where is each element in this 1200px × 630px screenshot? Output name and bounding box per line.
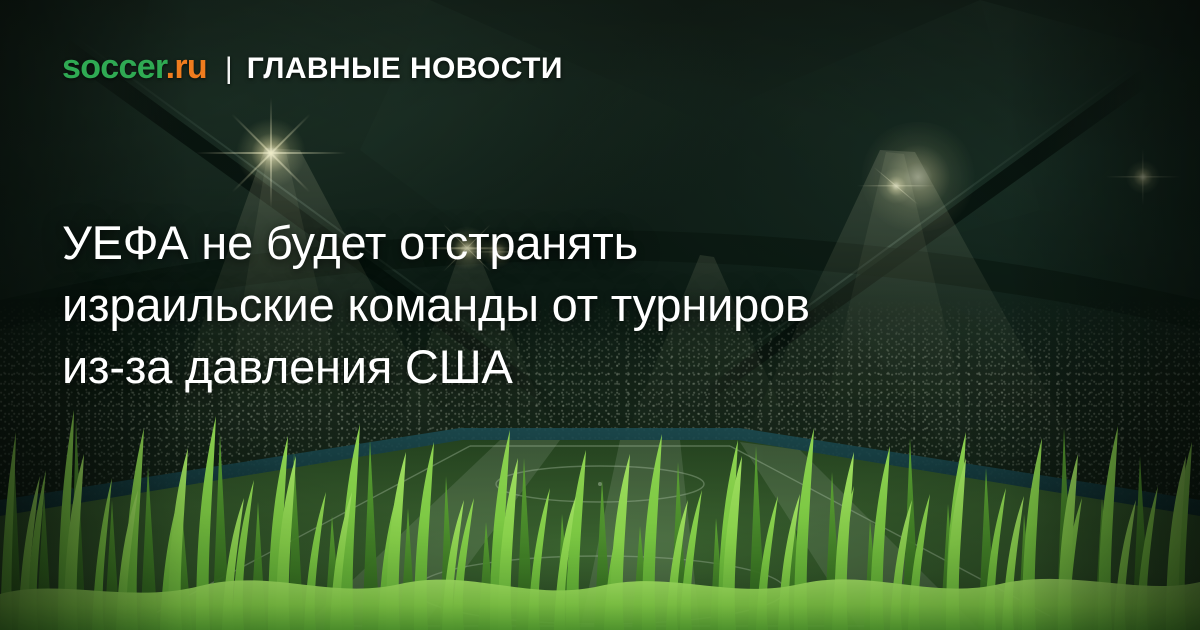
card-content: soccer.ru | ГЛАВНЫЕ НОВОСТИ УЕФА не буде… (0, 0, 1200, 630)
site-header: soccer.ru | ГЛАВНЫЕ НОВОСТИ (62, 50, 563, 84)
section-title: ГЛАВНЫЕ НОВОСТИ (247, 54, 563, 84)
news-card: soccer.ru | ГЛАВНЫЕ НОВОСТИ УЕФА не буде… (0, 0, 1200, 630)
logo-dot: . (166, 48, 175, 86)
headline-line-3: из-за давления США (62, 336, 1092, 398)
headline-line-2: израильские команды от турниров (62, 274, 1092, 336)
site-logo[interactable]: soccer.ru (62, 50, 207, 84)
logo-name-text: soccer (62, 48, 166, 86)
headline: УЕФА не будет отстранять израильские ком… (62, 212, 1092, 398)
logo-tld-text: ru (174, 48, 207, 86)
headline-line-1: УЕФА не будет отстранять (62, 212, 1092, 274)
header-separator: | (225, 54, 233, 84)
